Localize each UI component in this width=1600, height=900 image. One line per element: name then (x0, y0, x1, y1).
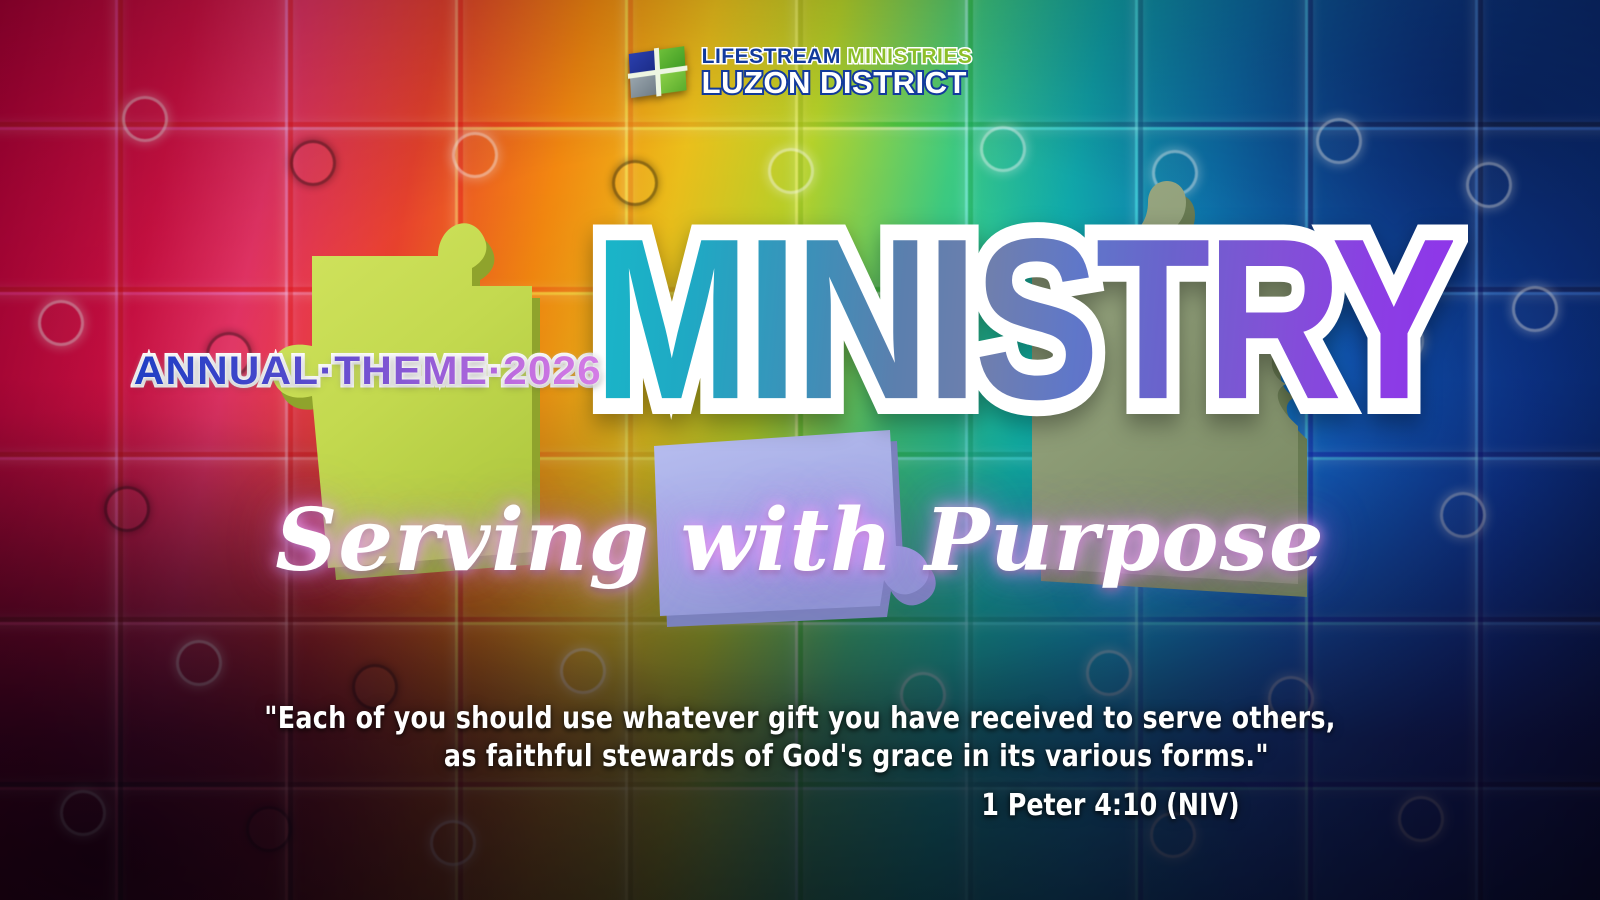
lifestream-cross-logo-icon (627, 42, 691, 103)
tagline: Serving with Purpose (275, 490, 1324, 591)
scripture-verse: "Each of you should use whatever gift yo… (48, 700, 1552, 777)
scripture-line-2: as faithful stewards of God's grace in i… (48, 738, 1552, 776)
scripture-line-1: "Each of you should use whatever gift yo… (48, 700, 1552, 738)
brand-logo[interactable]: LIFESTREAM MINISTRIES LUZON DISTRICT (628, 46, 973, 98)
brand-line-1: LIFESTREAM MINISTRIES (702, 47, 973, 67)
scripture-reference: 1 Peter 4:10 (NIV) (981, 788, 1239, 823)
brand-line-2: LUZON DISTRICT (702, 68, 973, 97)
poster-canvas: LIFESTREAM MINISTRIES LUZON DISTRICT ANN… (0, 0, 1600, 900)
brand-logo-text: LIFESTREAM MINISTRIES LUZON DISTRICT (702, 47, 973, 97)
